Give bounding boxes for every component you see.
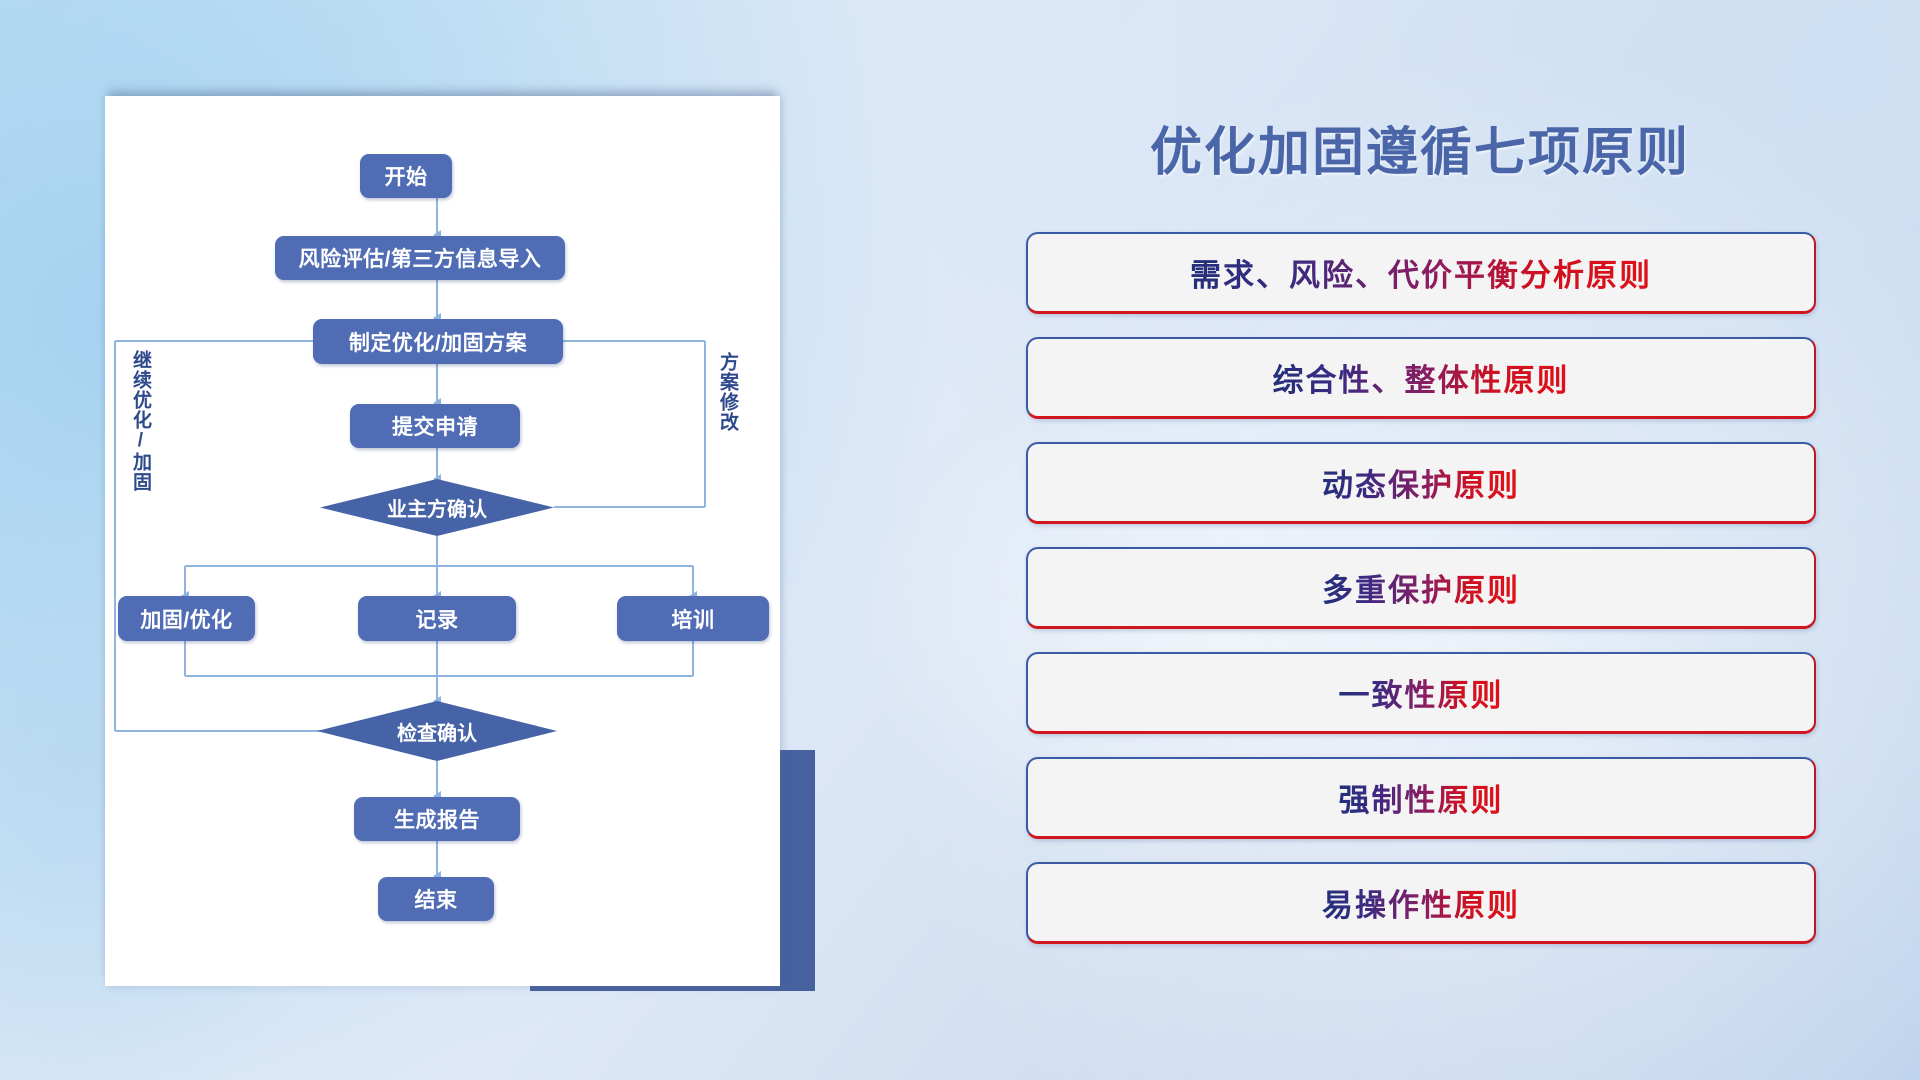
flowchart-card: 开始 风险评估/第三方信息导入 制定优化/加固方案 提交申请 业主方确认 加固/… xyxy=(105,96,780,986)
principle-card-1-label: 需求、风险、代价平衡分析原则 xyxy=(1190,250,1652,295)
flow-node-assess[interactable]: 风险评估/第三方信息导入 xyxy=(275,236,565,280)
flow-node-report-label: 生成报告 xyxy=(394,804,480,834)
principle-card-2[interactable]: 综合性、整体性原则 xyxy=(1026,337,1816,419)
flow-edge-label-continue-optimize: 继续优化/加固 xyxy=(130,350,150,492)
slide-canvas: 开始 风险评估/第三方信息导入 制定优化/加固方案 提交申请 业主方确认 加固/… xyxy=(0,0,1920,1080)
flow-decision-inspection-label: 检查确认 xyxy=(397,717,477,746)
flow-node-record-label: 记录 xyxy=(416,604,459,634)
principle-card-7[interactable]: 易操作性原则 xyxy=(1026,862,1816,944)
principle-card-5-label: 一致性原则 xyxy=(1339,670,1504,715)
principle-card-7-label: 易操作性原则 xyxy=(1322,880,1520,925)
flow-node-reinforce-label: 加固/优化 xyxy=(140,604,232,634)
flow-node-record[interactable]: 记录 xyxy=(358,596,516,641)
principles-list: 需求、风险、代价平衡分析原则 综合性、整体性原则 动态保护原则 多重保护原则 一… xyxy=(1026,232,1816,944)
right-panel-title: 优化加固遵循七项原则 xyxy=(1150,110,1690,185)
principle-card-5[interactable]: 一致性原则 xyxy=(1026,652,1816,734)
flow-node-plan[interactable]: 制定优化/加固方案 xyxy=(313,319,563,364)
principle-card-4-label: 多重保护原则 xyxy=(1322,565,1520,610)
flow-node-submit-label: 提交申请 xyxy=(392,411,478,441)
principle-card-6[interactable]: 强制性原则 xyxy=(1026,757,1816,839)
principle-card-1[interactable]: 需求、风险、代价平衡分析原则 xyxy=(1026,232,1816,314)
flowchart-connectors xyxy=(105,96,780,986)
principle-card-2-label: 综合性、整体性原则 xyxy=(1273,355,1570,400)
flow-node-start[interactable]: 开始 xyxy=(360,154,452,198)
flow-node-report[interactable]: 生成报告 xyxy=(354,797,520,841)
flow-node-end-label: 结束 xyxy=(415,884,458,914)
flow-node-reinforce[interactable]: 加固/优化 xyxy=(118,596,255,641)
flow-decision-owner-confirm-label: 业主方确认 xyxy=(387,493,487,522)
principle-card-3[interactable]: 动态保护原则 xyxy=(1026,442,1816,524)
flow-edge-label-plan-revision: 方案修改 xyxy=(717,352,737,432)
flow-node-end[interactable]: 结束 xyxy=(378,877,494,921)
flow-node-training-label: 培训 xyxy=(672,604,715,634)
flow-node-submit[interactable]: 提交申请 xyxy=(350,404,520,448)
principle-card-4[interactable]: 多重保护原则 xyxy=(1026,547,1816,629)
principle-card-3-label: 动态保护原则 xyxy=(1322,460,1520,505)
flow-node-plan-label: 制定优化/加固方案 xyxy=(349,327,527,357)
flow-node-training[interactable]: 培训 xyxy=(617,596,769,641)
flow-node-assess-label: 风险评估/第三方信息导入 xyxy=(299,243,542,273)
flow-node-start-label: 开始 xyxy=(385,161,428,191)
principle-card-6-label: 强制性原则 xyxy=(1339,775,1504,820)
